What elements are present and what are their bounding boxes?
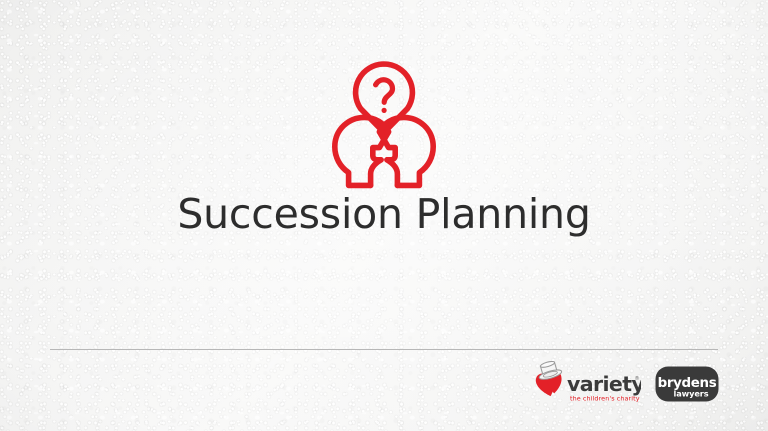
variety-logo: variety ® the children's charity (533, 361, 641, 405)
page-title: Succession Planning (0, 190, 768, 238)
variety-trademark-mark: ® (635, 375, 640, 382)
variety-wordmark: variety (567, 372, 641, 396)
presentation-slide: Succession Planning (0, 0, 768, 431)
brydens-lawyers-logo: brydens lawyers (655, 366, 719, 402)
slide-content: Succession Planning (0, 0, 768, 431)
two-heads-question-icon (326, 60, 442, 190)
brydens-lawyers-subtext: lawyers (674, 389, 709, 399)
footer-divider (50, 349, 718, 350)
question-mark-glyph (376, 80, 393, 113)
footer-logo-group: variety ® the children's charity brydens… (533, 360, 723, 406)
variety-tagline: the children's charity (570, 395, 640, 403)
